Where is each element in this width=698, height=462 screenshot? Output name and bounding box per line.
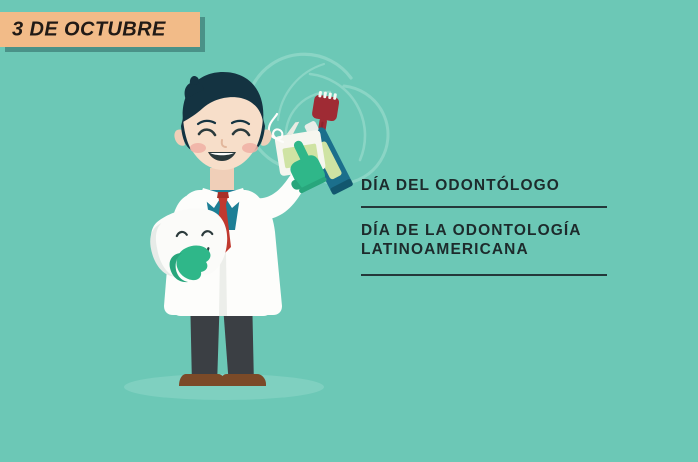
title-divider-1 (361, 206, 607, 208)
title-divider-2 (361, 274, 607, 276)
poster-canvas: 3 DE OCTUBRE DÍA DEL ODONTÓLOGO DÍA DE L… (0, 0, 698, 462)
title-block: DÍA DEL ODONTÓLOGO DÍA DE LA ODONTOLOGÍA… (361, 176, 607, 276)
tie-knot-icon (217, 192, 229, 198)
neck (210, 168, 234, 190)
date-banner-label: 3 DE OCTUBRE (12, 18, 166, 41)
cheek-right (242, 143, 258, 153)
title-line-odontologo: DÍA DEL ODONTÓLOGO (361, 176, 607, 195)
cheek-left (190, 143, 206, 153)
date-banner: 3 DE OCTUBRE (0, 12, 200, 47)
title-line-odontologia: DÍA DE LA ODONTOLOGÍA (361, 221, 607, 240)
title-line-latinoamericana: LATINOAMERICANA (361, 240, 607, 259)
